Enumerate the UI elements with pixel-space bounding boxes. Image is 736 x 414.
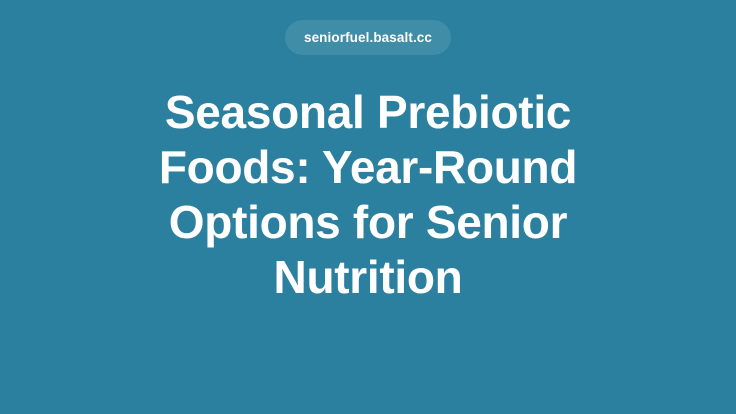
social-share-card: seniorfuel.basalt.cc Seasonal Prebiotic … bbox=[0, 0, 736, 414]
article-title: Seasonal Prebiotic Foods: Year-Round Opt… bbox=[153, 85, 583, 305]
headline-wrap: Seasonal Prebiotic Foods: Year-Round Opt… bbox=[0, 85, 736, 305]
site-domain-badge: seniorfuel.basalt.cc bbox=[285, 20, 451, 55]
badge-row: seniorfuel.basalt.cc bbox=[0, 20, 736, 55]
